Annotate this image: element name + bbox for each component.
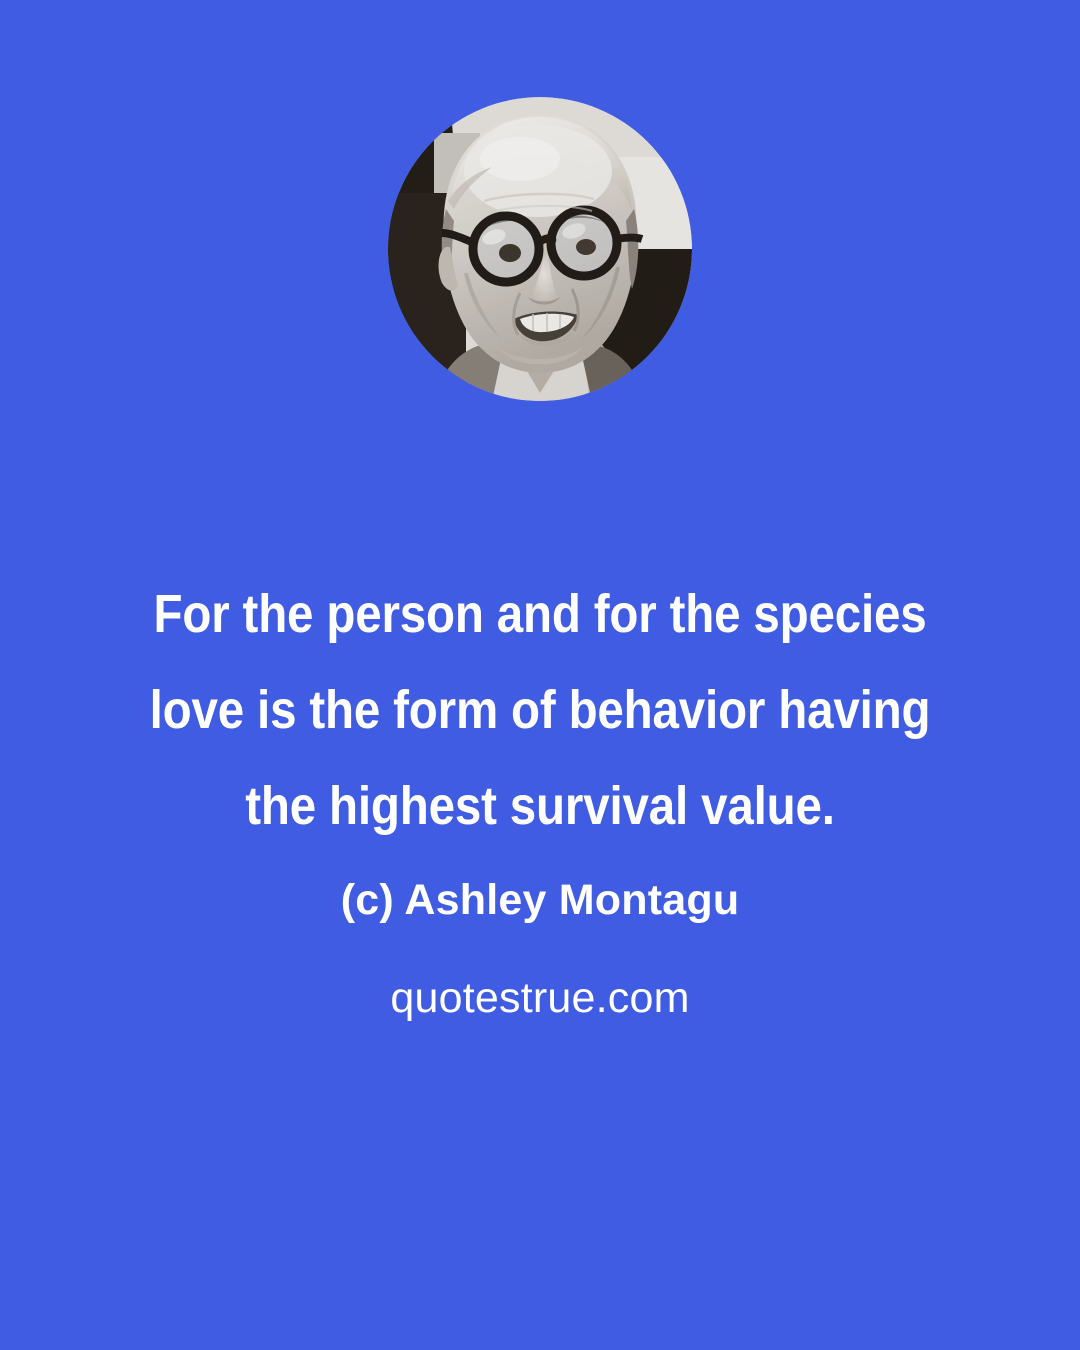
quote-card: For the person and for the species love … — [0, 0, 1080, 1350]
author-portrait-photo — [388, 97, 692, 401]
quote-text: For the person and for the species love … — [60, 566, 1020, 854]
quote-line-3: the highest survival value. — [118, 758, 963, 854]
site-watermark: quotestrue.com — [0, 972, 1080, 1024]
quote-line-2: love is the form of behavior having — [118, 662, 963, 758]
portrait-illustration — [388, 97, 692, 401]
quote-line-1: For the person and for the species — [118, 566, 963, 662]
quote-attribution: (c) Ashley Montagu — [0, 874, 1080, 926]
